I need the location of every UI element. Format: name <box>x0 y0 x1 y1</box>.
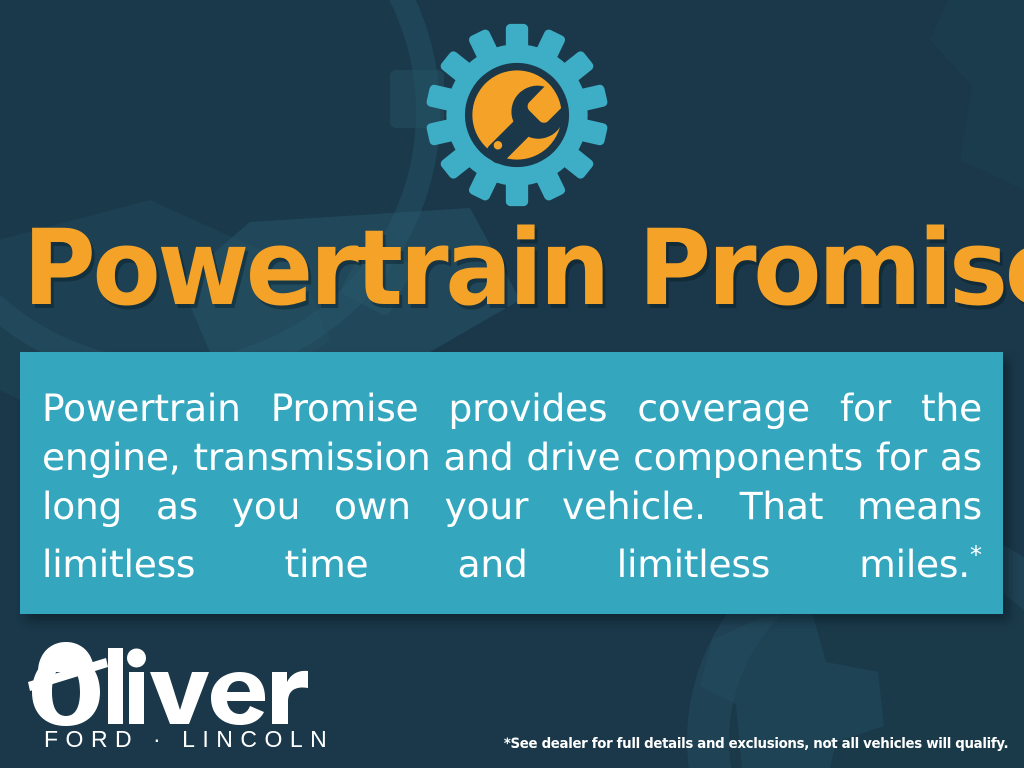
gear-wrench-icon <box>424 22 610 208</box>
letter-r <box>272 671 308 724</box>
letter-i <box>127 649 146 725</box>
letter-v <box>150 672 209 724</box>
logo-subtitle: FORD · LINCOLN <box>44 726 328 752</box>
oliver-logo: FORD · LINCOLN <box>28 638 328 760</box>
body-panel: Powertrain Promise provides coverage for… <box>20 352 1003 614</box>
footnote-asterisk: * <box>970 541 982 569</box>
oliver-wordmark-svg <box>28 638 328 726</box>
bg-gear-upper-right <box>930 0 1024 190</box>
letter-l <box>108 648 123 724</box>
oliver-wordmark <box>28 638 328 726</box>
letter-e <box>211 672 265 725</box>
page-title: Powertrain Promise <box>23 216 1001 320</box>
gear-wrench-svg <box>424 22 610 208</box>
powertrain-promise-poster: Powertrain Promise Powertrain Promise pr… <box>0 0 1024 768</box>
letter-o-with-hat-icon <box>28 642 108 726</box>
body-paragraph-text: Powertrain Promise provides coverage for… <box>42 386 982 586</box>
disclaimer-text: *See dealer for full details and exclusi… <box>504 735 1008 753</box>
body-paragraph: Powertrain Promise provides coverage for… <box>42 384 982 638</box>
